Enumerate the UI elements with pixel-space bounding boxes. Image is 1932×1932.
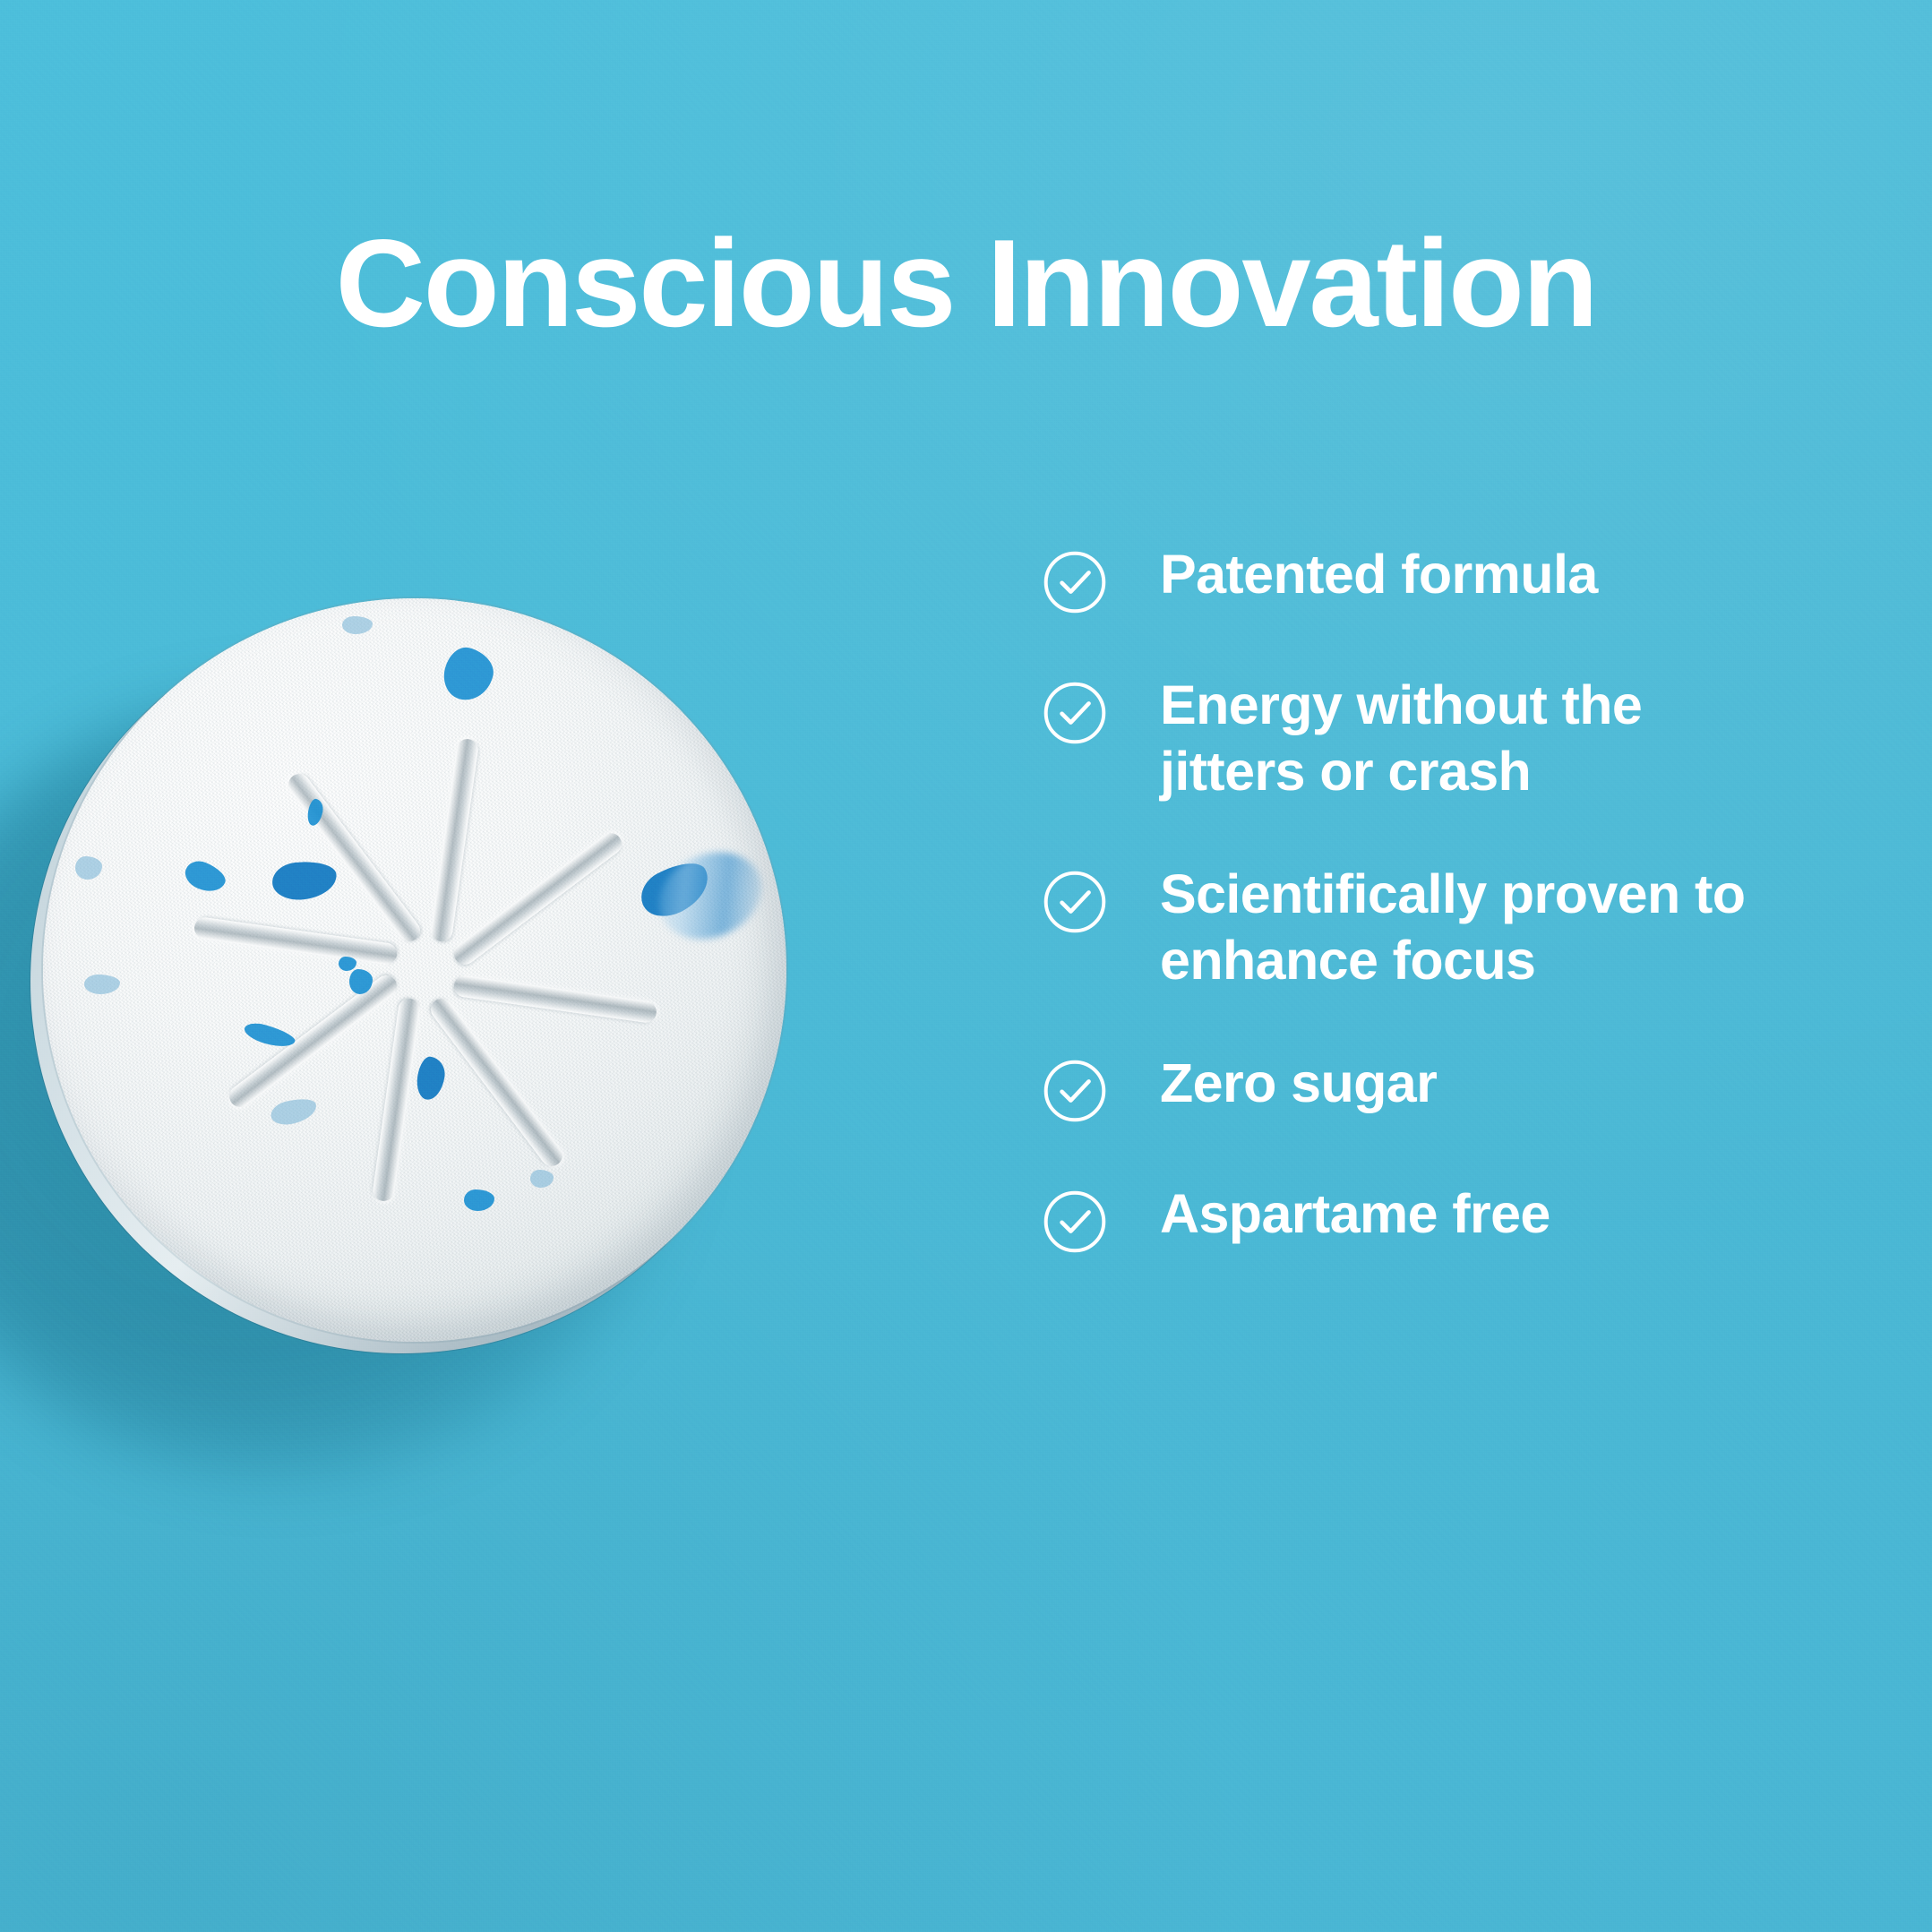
page-title: Conscious Innovation [0,220,1932,348]
check-circle-icon [1041,1057,1109,1125]
promo-canvas: Conscious Innovation Patented formula En… [0,0,1932,1932]
tablet-speckles [43,598,786,1342]
feature-label: Zero sugar [1160,1050,1437,1116]
feature-label: Patented formula [1160,541,1598,607]
product-image [0,555,985,1567]
check-circle-icon [1041,548,1109,616]
feature-list: Patented formula Energy without the jitt… [1041,541,1883,1256]
check-circle-icon [1041,679,1109,747]
check-circle-icon [1041,868,1109,936]
list-item: Energy without the jitters or crash [1041,672,1883,805]
feature-label: Aspartame free [1160,1181,1550,1247]
effervescent-tablet-icon [43,598,786,1342]
feature-label: Energy without the jitters or crash [1160,672,1715,805]
list-item: Patented formula [1041,541,1883,616]
feature-label: Scientifically proven to enhance focus [1160,861,1778,994]
list-item: Scientifically proven to enhance focus [1041,861,1883,994]
list-item: Zero sugar [1041,1050,1883,1125]
check-circle-icon [1041,1188,1109,1256]
list-item: Aspartame free [1041,1181,1883,1256]
